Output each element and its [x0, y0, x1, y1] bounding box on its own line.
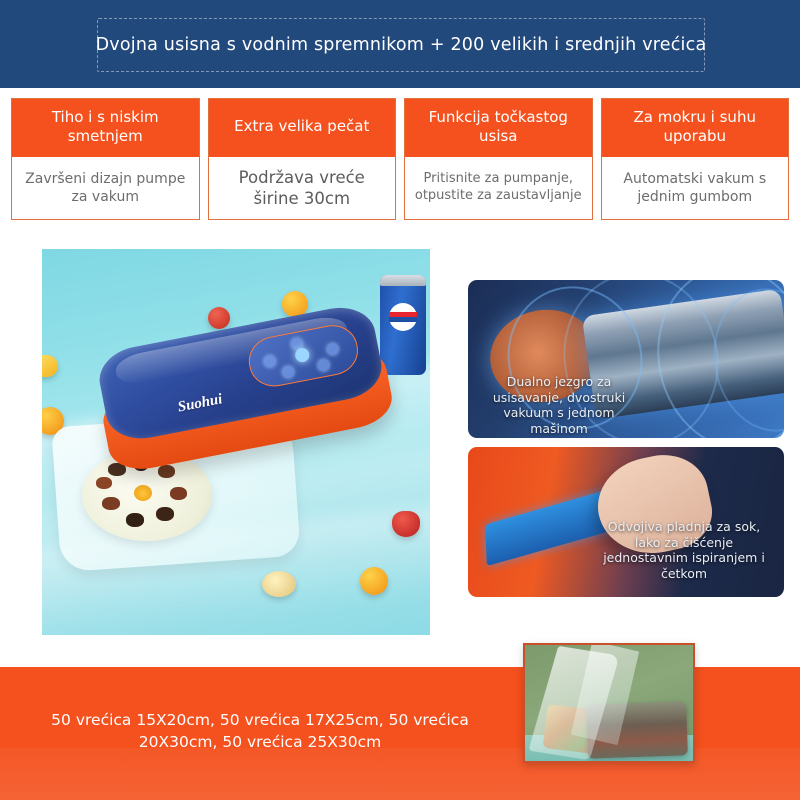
feature-box-quiet-heading: Tiho i s niskim smetnjem — [12, 99, 199, 157]
control-button-right[interactable] — [326, 342, 340, 356]
feature-box-row: Tiho i s niskim smetnjem Završeni dizajn… — [11, 98, 789, 220]
feature-box-spot-suction-heading: Funkcija točkastog usisa — [405, 99, 592, 157]
product-detail-page: Dvojna usisna s vodnim spremnikom + 200 … — [0, 0, 800, 800]
panel-dual-motor-caption: Dualno jezgro za usisavanje, dvostruki v… — [484, 374, 634, 437]
feature-box-seal-body: Podržava vreće širine 30cm — [209, 157, 396, 219]
hero-product-photo: Suohui — [42, 249, 430, 635]
panel-removable-tray-caption: Odvojiva pladnja za sok, lako za čišćenj… — [594, 519, 774, 582]
vacuum-bags-photo — [523, 643, 695, 763]
feature-box-seal[interactable]: Extra velika pečat Podržava vreće širine… — [208, 98, 397, 220]
tomato-fruit — [208, 307, 230, 329]
topping-6 — [126, 513, 144, 527]
control-button-left[interactable] — [263, 354, 277, 368]
bag-sizes-text: 50 vrećica 15X20cm, 50 vrećica 17X25cm, … — [30, 709, 490, 753]
topping-4 — [170, 487, 187, 500]
banner-title: Dvojna usisna s vodnim spremnikom + 200 … — [96, 35, 707, 55]
topping-7 — [102, 497, 120, 510]
can-top — [380, 275, 426, 286]
control-button-bottom-left[interactable] — [281, 365, 295, 379]
feature-box-quiet[interactable]: Tiho i s niskim smetnjem Završeni dizajn… — [11, 98, 200, 220]
pepsi-can — [380, 275, 426, 375]
feature-box-spot-suction-body: Pritisnite za pumpanje, otpustite za zau… — [405, 157, 592, 219]
feature-box-wet-dry-heading: Za mokru i suhu uporabu — [602, 99, 789, 157]
strawberry-bottom — [392, 511, 420, 537]
control-button-bottom-right[interactable] — [317, 358, 331, 372]
banana-chip — [262, 571, 296, 597]
feature-box-wet-dry[interactable]: Za mokru i suhu uporabu Automatski vakum… — [601, 98, 790, 220]
topping-5 — [156, 507, 174, 521]
panel-removable-tray: Odvojiva pladnja za sok, lako za čišćenj… — [468, 447, 784, 597]
control-button-center[interactable] — [294, 347, 310, 363]
top-banner: Dvojna usisna s vodnim spremnikom + 200 … — [0, 0, 800, 88]
banner-title-frame: Dvojna usisna s vodnim spremnikom + 200 … — [97, 18, 705, 72]
feature-box-spot-suction[interactable]: Funkcija točkastog usisa Pritisnite za p… — [404, 98, 593, 220]
feature-box-seal-heading: Extra velika pečat — [209, 99, 396, 157]
topping-8 — [96, 477, 112, 489]
feature-box-quiet-body: Završeni dizajn pumpe za vakum — [12, 157, 199, 219]
can-logo — [389, 303, 417, 331]
feature-box-wet-dry-body: Automatski vakum s jednim gumbom — [602, 157, 789, 219]
topping-yolk — [134, 485, 152, 501]
panel-dual-motor: Dualno jezgro za usisavanje, dvostruki v… — [468, 280, 784, 438]
kumquat-fruit-bottom — [360, 567, 388, 595]
